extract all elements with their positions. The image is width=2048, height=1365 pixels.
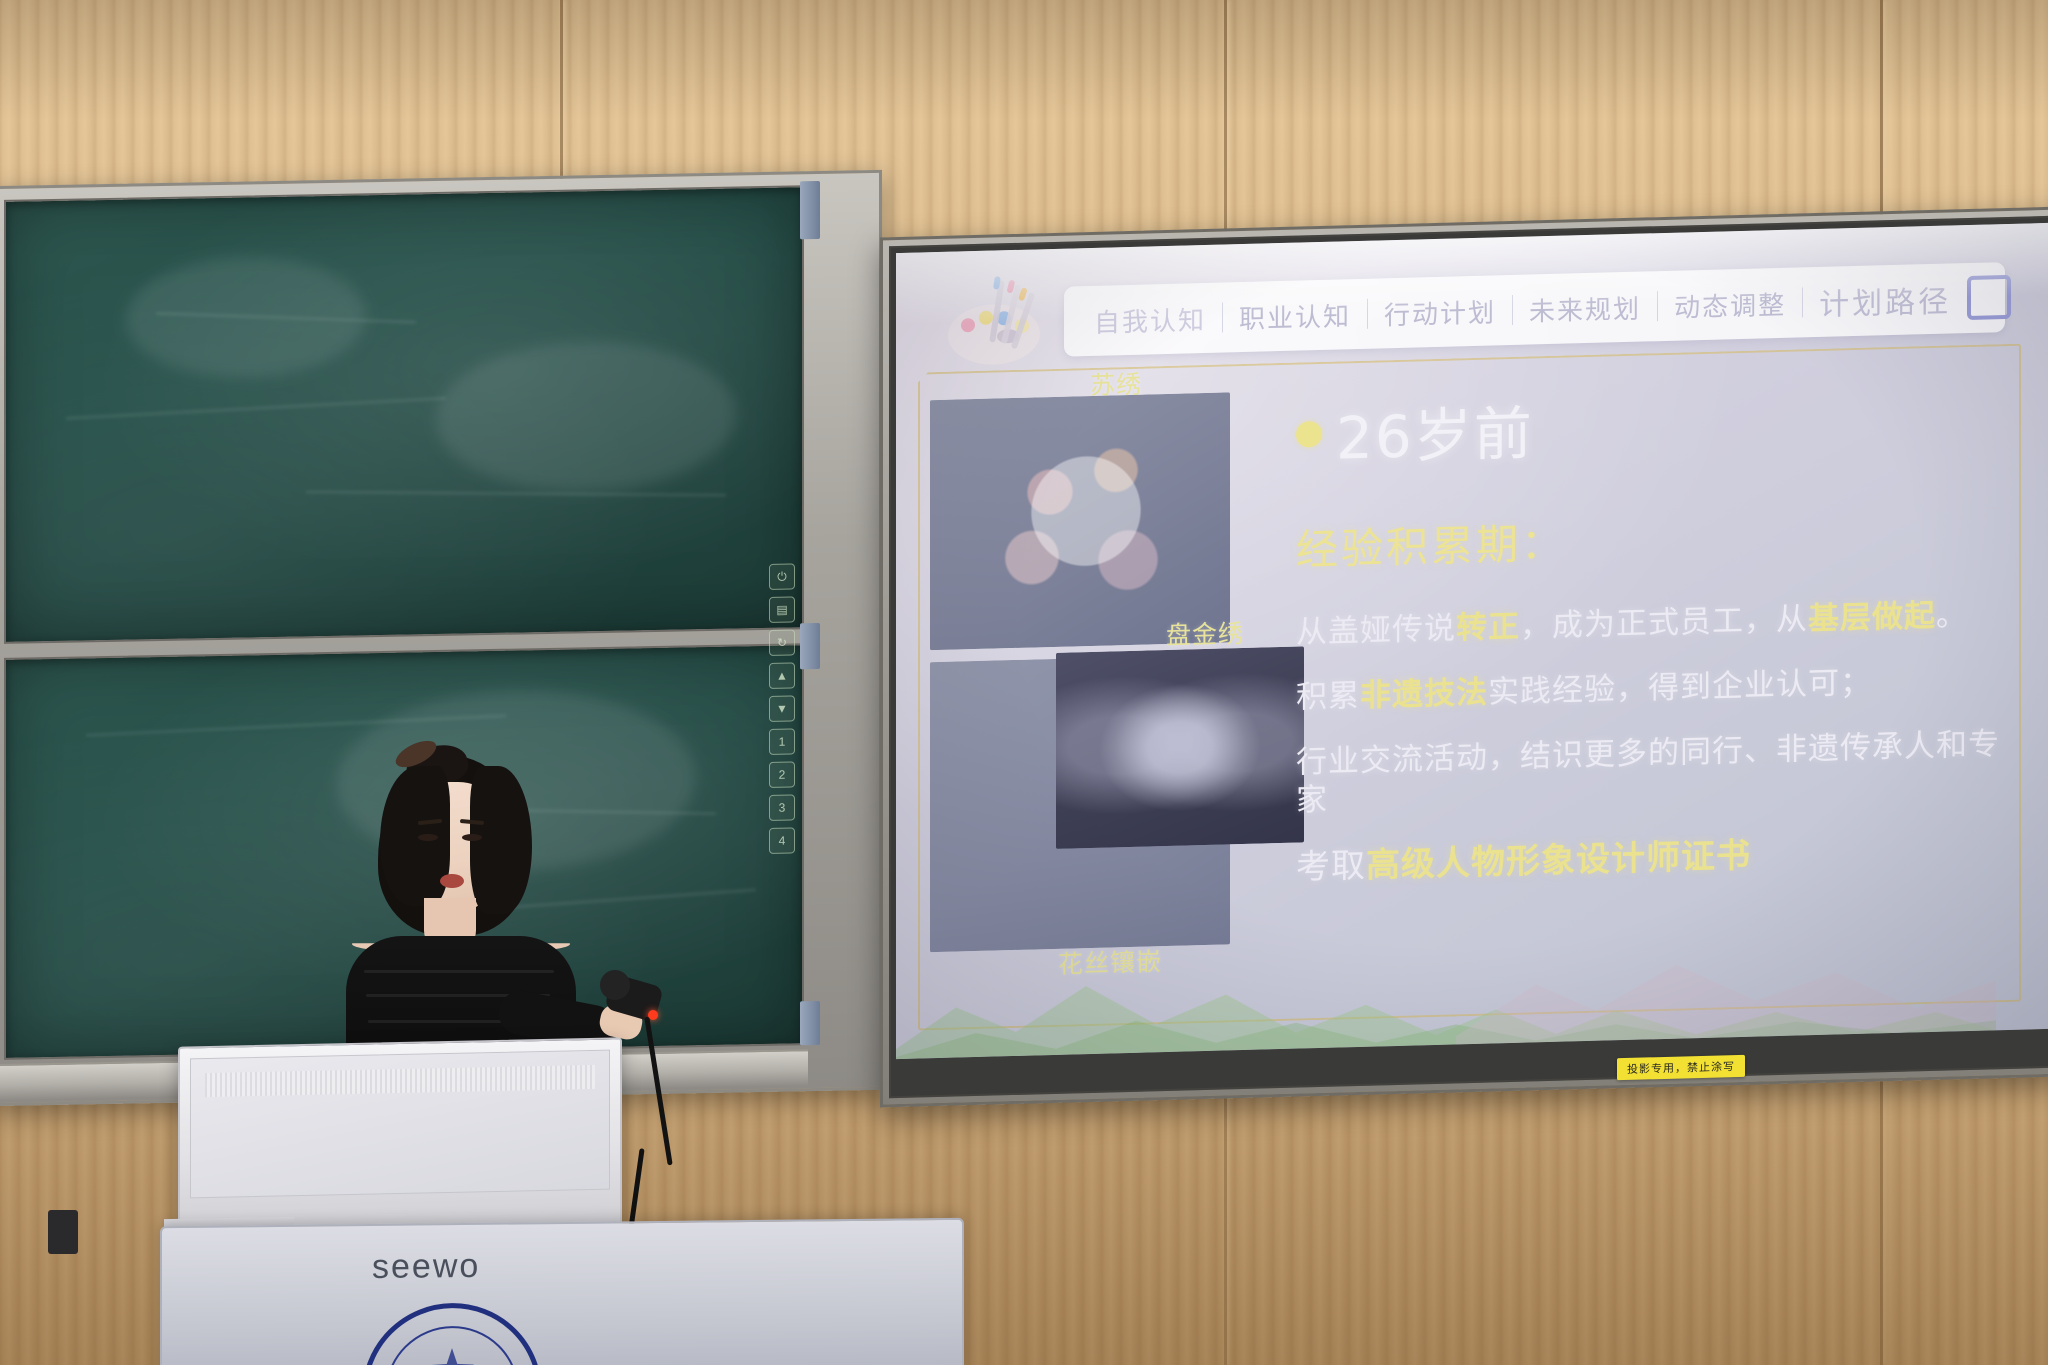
body-text: 实践经验，得到企业认可；	[1488, 664, 1872, 710]
up-icon[interactable]: ▲	[769, 662, 795, 688]
presentation-slide[interactable]: 自我认知 职业认知 行动计划 未来规划 动态调整 计划路径 苏绣 盘金绣	[896, 223, 2048, 1059]
slide-body-line-1: 从盖娅传说转正，成为正式员工，从基层做起。	[1296, 595, 2009, 652]
bullet-dot-icon	[1296, 421, 1322, 448]
classroom-scene: ⏻ ▤ ↻ ▲ ▼ 1 2 3 4	[0, 0, 2048, 1365]
wall-top-shadow	[0, 0, 2048, 120]
desk-object	[48, 1210, 78, 1254]
note-icon[interactable]: ▤	[769, 596, 795, 622]
seewo-brand-logo: seewo	[372, 1247, 480, 1287]
tab-dynamic-adjustment[interactable]: 动态调整	[1658, 284, 1802, 325]
body-text: 从盖娅传说	[1296, 610, 1456, 650]
presenter-person	[318, 748, 648, 1078]
body-text: 行业交流活动，结识更多的同行、非遗传承人和专家	[1296, 726, 2000, 819]
panjinxiu-embroidery-image	[1056, 646, 1304, 848]
channel-3-icon[interactable]: 3	[769, 794, 795, 820]
warning-sticker: 投影专用，禁止涂写	[1617, 1055, 1745, 1080]
chalkboard-hinge	[800, 1001, 820, 1045]
image-label-panjinxiu: 盘金绣	[1166, 614, 1244, 652]
monitor-screen[interactable]	[190, 1050, 610, 1199]
mouth	[440, 874, 464, 888]
channel-2-icon[interactable]: 2	[769, 761, 795, 787]
slide-image-column: 苏绣 盘金绣 花丝镶嵌	[930, 380, 1260, 1025]
square-bracket-logo-icon	[1967, 275, 2011, 320]
slide-body-line-4: 考取高级人物形象设计师证书	[1296, 828, 2009, 889]
suxiu-embroidery-image	[930, 392, 1230, 650]
chalkboard-control-strip[interactable]: ⏻ ▤ ↻ ▲ ▼ 1 2 3 4	[768, 563, 796, 854]
chalkboard-panel-upper	[4, 185, 804, 644]
tab-self-awareness[interactable]: 自我认知	[1078, 299, 1222, 340]
eye-left	[418, 834, 438, 841]
slide-subheading: 经验积累期：	[1296, 498, 2009, 578]
refresh-icon[interactable]: ↻	[769, 629, 795, 655]
body-text: 。	[1936, 597, 1968, 634]
slide-text-column: 26岁前 经验积累期： 从盖娅传说转正，成为正式员工，从基层做起。 积累非遗技法…	[1296, 374, 2009, 915]
chalkboard-hinge	[800, 623, 820, 669]
highlighted-text: 非遗技法	[1360, 674, 1488, 713]
chalkboard-hinge	[800, 181, 820, 239]
slide-body-line-3: 行业交流活动，结识更多的同行、非遗传承人和专家	[1296, 724, 2009, 820]
image-label-huasi: 花丝镶嵌	[1058, 942, 1162, 981]
body-text: 考取	[1296, 846, 1366, 888]
power-icon[interactable]: ⏻	[769, 563, 795, 589]
tab-action-plan[interactable]: 行动计划	[1368, 291, 1512, 332]
tab-plan-path[interactable]: 计划路径	[1803, 276, 1967, 324]
tab-career-awareness[interactable]: 职业认知	[1223, 295, 1367, 336]
slide-body-line-2: 积累非遗技法实践经验，得到企业认可；	[1296, 660, 2009, 717]
body-text: 积累	[1296, 678, 1360, 716]
highlighted-text: 转正	[1456, 609, 1520, 647]
channel-1-icon[interactable]: 1	[769, 728, 795, 754]
eye-right	[462, 834, 482, 841]
tab-future-planning[interactable]: 未来规划	[1513, 288, 1657, 329]
podium: seewo	[160, 1218, 964, 1365]
monitor-grille	[205, 1065, 595, 1097]
podium-monitor[interactable]	[178, 1037, 622, 1235]
channel-4-icon[interactable]: 4	[769, 827, 795, 853]
highlighted-text: 基层做起	[1808, 598, 1936, 637]
down-icon[interactable]: ▼	[769, 695, 795, 721]
hair-front-right	[470, 766, 532, 914]
paint-palette-icon	[942, 275, 1060, 374]
slide-heading: 26岁前	[1336, 386, 1534, 475]
projection-screen-assembly: 自我认知 职业认知 行动计划 未来规划 动态调整 计划路径 苏绣 盘金绣	[880, 206, 2048, 1107]
body-text: ，成为正式员工，从	[1520, 601, 1808, 645]
microphone-head	[600, 970, 630, 1000]
slide-heading-row: 26岁前	[1296, 374, 2009, 477]
highlighted-text: 高级人物形象设计师证书	[1366, 836, 1751, 886]
hair-front-left	[380, 766, 450, 906]
university-seal-emblem	[362, 1302, 542, 1365]
fabric-fold	[364, 970, 554, 973]
slide-nav-tabbar[interactable]: 自我认知 职业认知 行动计划 未来规划 动态调整 计划路径	[1064, 262, 2005, 357]
